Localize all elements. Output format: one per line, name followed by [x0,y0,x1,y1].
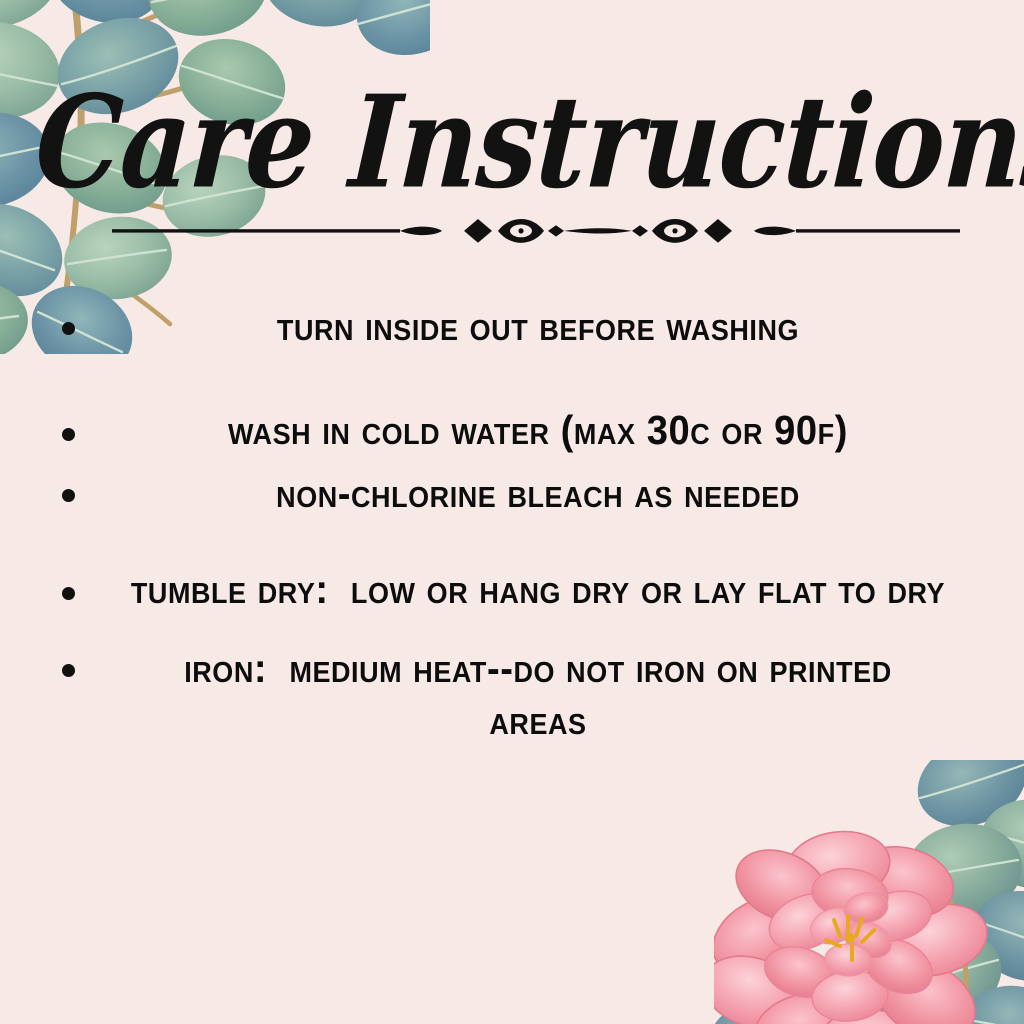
instruction-item-tumble-dry: TUMBLE DRY: LOW OR HANG DRY OR LAY FLAT … [48,563,976,615]
instruction-item-non-chlorine-bleach: NON-CHLORINE BLEACH AS NEEDED [48,467,976,519]
care-instructions-card: Care Instructions [0,0,1024,1024]
instruction-text: NON-CHLORINE BLEACH AS NEEDED [131,467,946,519]
instruction-text: TUMBLE DRY: LOW OR HANG DRY OR LAY FLAT … [131,563,946,615]
instruction-text: IRON: MEDIUM HEAT--DO NOT IRON ON PRINTE… [131,642,946,747]
peony-bottom-right-decoration [714,760,1024,1024]
bullet-icon [62,489,75,502]
instruction-item-wash-cold: WASH IN COLD WATER (MAX 30C OR 90F) [48,404,976,456]
bullet-icon [62,322,75,335]
bullet-icon [62,664,75,677]
instruction-text: WASH IN COLD WATER (MAX 30C OR 90F) [131,404,946,456]
ornamental-divider [112,214,960,248]
bullet-icon [62,587,75,600]
instruction-text: TURN INSIDE OUT BEFORE WASHING [131,300,946,352]
instruction-item-iron: IRON: MEDIUM HEAT--DO NOT IRON ON PRINTE… [48,642,976,747]
instructions-list: TURN INSIDE OUT BEFORE WASHING WASH IN C… [48,300,976,747]
bullet-icon [62,428,75,441]
title-block: Care Instructions [0,78,1024,188]
instruction-item-turn-inside-out: TURN INSIDE OUT BEFORE WASHING [48,300,976,352]
page-title: Care Instructions [0,78,1024,208]
